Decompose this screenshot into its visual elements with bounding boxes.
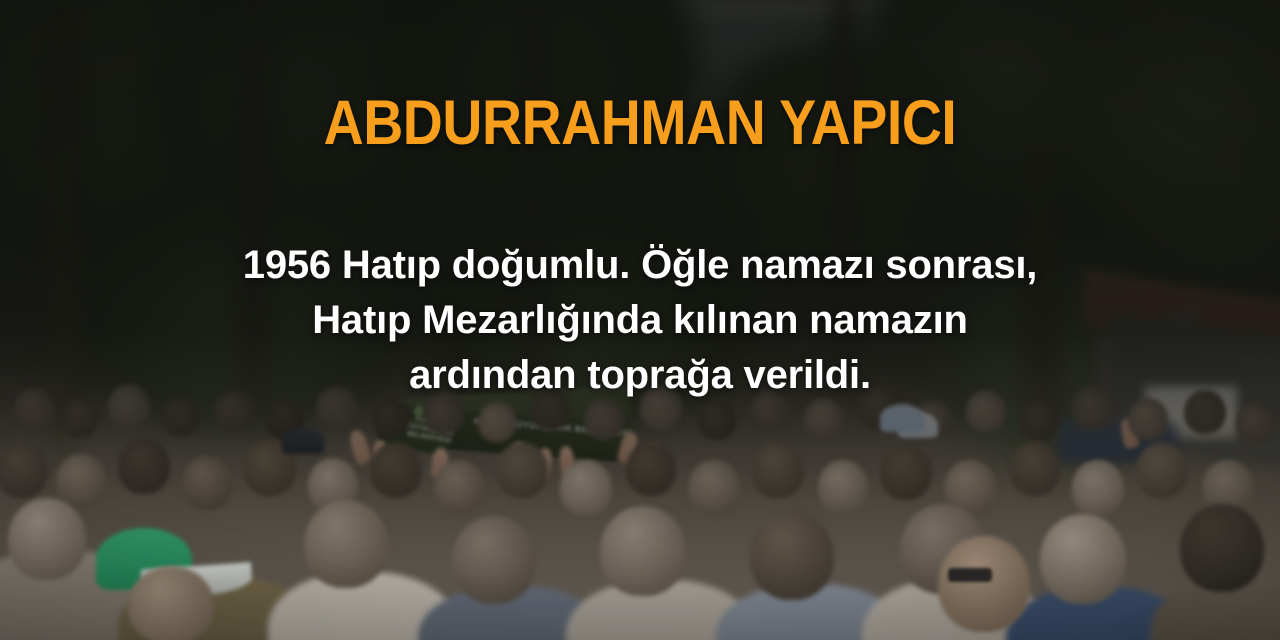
page-title: ABDURRAHMAN YAPICI [77,92,1203,155]
summary-line-1: 1956 Hatıp doğumlu. Öğle namazı sonrası, [190,238,1090,293]
summary-line-3: ardından toprağa verildi. [190,348,1090,403]
memorial-card: KONYA BÜYÜKŞEHİR BELEDİYESİ KONYA BÜYÜKŞ… [0,0,1280,640]
summary-line-2: Hatıp Mezarlığında kılınan namazın [190,293,1090,348]
memorial-content: ABDURRAHMAN YAPICI 1956 Hatıp doğumlu. Ö… [0,0,1280,640]
memorial-summary: 1956 Hatıp doğumlu. Öğle namazı sonrası,… [190,238,1090,403]
